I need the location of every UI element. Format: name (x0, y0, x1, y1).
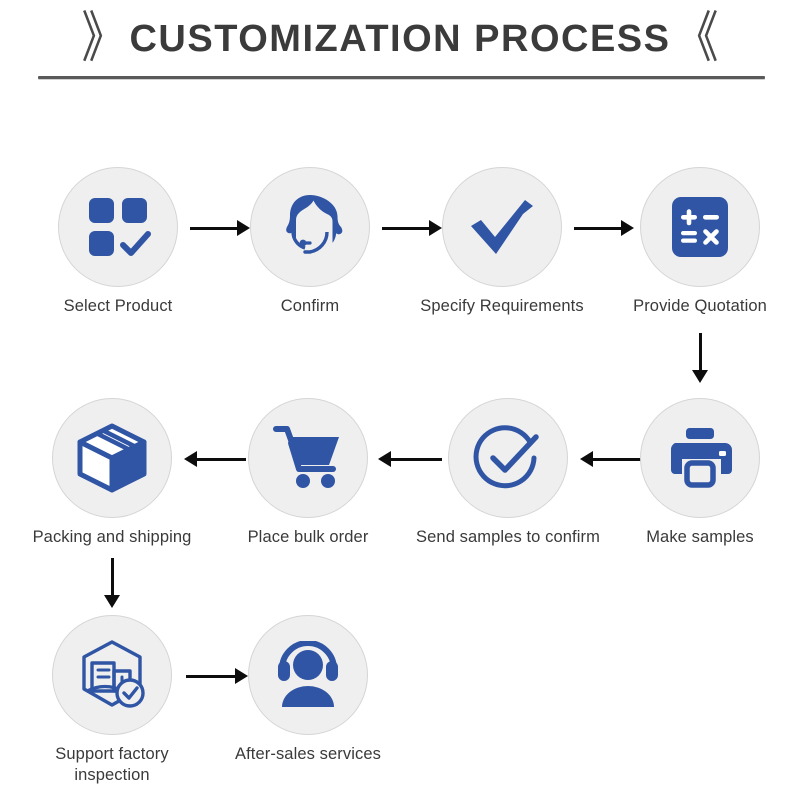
step-after-sales-services[interactable]: After-sales services (228, 615, 388, 765)
factory-inspection-icon (74, 637, 150, 713)
page-title-text: CUSTOMIZATION PROCESS (129, 18, 670, 61)
step-icon-circle (250, 167, 370, 287)
connector-row1-to-row2 (690, 333, 710, 383)
step-icon-circle (442, 167, 562, 287)
arrow-head (104, 595, 120, 608)
step-icon-circle (640, 398, 760, 518)
step-label: Provide Quotation (600, 296, 800, 317)
step-label: Send samples to confirm (408, 527, 608, 548)
headset-agent-icon (273, 190, 347, 264)
step-make-samples[interactable]: Make samples (620, 398, 780, 548)
step-icon-circle (248, 398, 368, 518)
shopping-cart-icon (273, 423, 343, 493)
support-person-icon (272, 641, 344, 709)
step-icon-circle (248, 615, 368, 735)
chevron-left-icon: 》 (81, 12, 125, 67)
arrow-shaft (699, 333, 702, 370)
arrow-head (692, 370, 708, 383)
chevron-right-icon: 《 (675, 12, 719, 67)
step-label: Packing and shipping (12, 527, 212, 548)
arrow-head (184, 451, 197, 467)
circle-check-icon (472, 422, 544, 494)
step-label: Select Product (38, 296, 198, 317)
step-support-factory-inspection[interactable]: Support factory inspection (32, 615, 192, 786)
step-icon-circle (52, 615, 172, 735)
step-label: Support factory inspection (12, 744, 212, 786)
step-place-bulk-order[interactable]: Place bulk order (228, 398, 388, 548)
calculator-icon (668, 195, 732, 259)
step-icon-circle (448, 398, 568, 518)
package-box-icon (76, 422, 148, 494)
step-provide-quotation[interactable]: Provide Quotation (620, 167, 780, 317)
step-icon-circle (640, 167, 760, 287)
step-label: Make samples (620, 527, 780, 548)
step-specify-requirements[interactable]: Specify Requirements (422, 167, 582, 317)
customization-process-infographic: 》 CUSTOMIZATION PROCESS 《 Select Product (0, 0, 800, 800)
header: 》 CUSTOMIZATION PROCESS 《 (0, 0, 800, 88)
step-packing-and-shipping[interactable]: Packing and shipping (32, 398, 192, 548)
step-select-product[interactable]: Select Product (38, 167, 198, 317)
step-label: Confirm (230, 296, 390, 317)
step-label: Place bulk order (228, 527, 388, 548)
arrow-shaft (574, 227, 621, 230)
step-label: Specify Requirements (402, 296, 602, 317)
arrow-shaft (111, 558, 114, 595)
grid-check-icon (85, 194, 151, 260)
checkmark-icon (467, 192, 537, 262)
step-icon-circle (58, 167, 178, 287)
arrow-head (580, 451, 593, 467)
arrow-head (378, 451, 391, 467)
page-title: 》 CUSTOMIZATION PROCESS 《 (0, 10, 800, 68)
step-label: After-sales services (208, 744, 408, 765)
printer-icon (665, 425, 735, 491)
step-icon-circle (52, 398, 172, 518)
title-divider (38, 76, 765, 79)
step-confirm[interactable]: Confirm (230, 167, 390, 317)
connector-row2-to-row3 (102, 558, 122, 608)
step-send-samples-to-confirm[interactable]: Send samples to confirm (428, 398, 588, 548)
